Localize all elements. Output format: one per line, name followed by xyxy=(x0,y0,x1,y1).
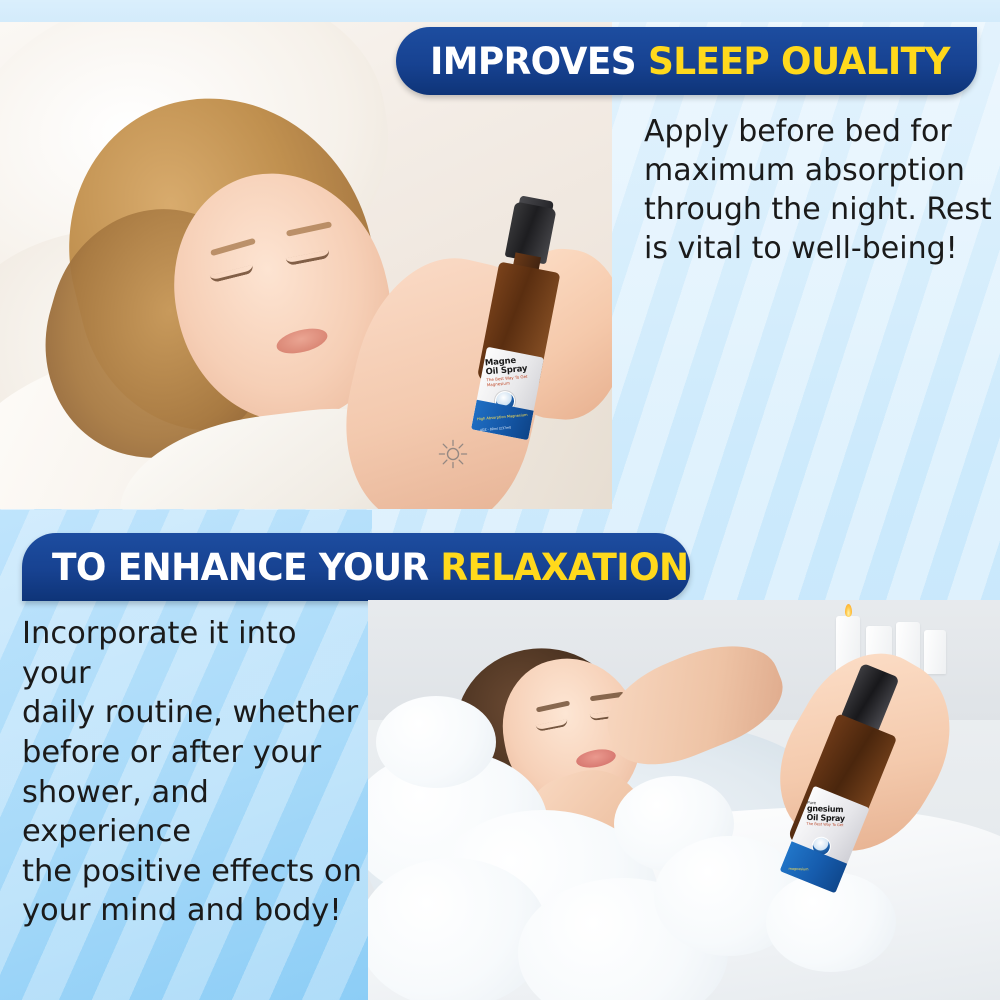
product-bottle-top: Magne Oil Spray The Best Way To Get Magn… xyxy=(475,200,582,393)
banner-2-highlight: RELAXATION xyxy=(440,546,688,589)
banner-1-lead: IMPROVES xyxy=(430,40,648,83)
bottle-label-text: Magne Oil Spray The Best Way To Get Magn… xyxy=(485,355,541,389)
banner-1-title: IMPROVES SLEEP OUALITY xyxy=(430,43,950,80)
banner-2-lead: TO ENHANCE YOUR xyxy=(52,546,440,589)
bottle-label-text-bath: Pure gnesium Oil Spray The Best Way To G… xyxy=(806,801,865,828)
photo-sleeping-woman: Magne Oil Spray The Best Way To Get Magn… xyxy=(0,22,612,509)
bottle-tagline-bath: The Best Way To Get xyxy=(806,822,864,828)
infographic-canvas: Magne Oil Spray The Best Way To Get Magn… xyxy=(0,0,1000,1000)
candle-flame-1 xyxy=(845,604,852,617)
banner-1-highlight: SLEEP OUALITY xyxy=(648,40,950,83)
foam-cluster-7 xyxy=(376,696,496,788)
sun-tattoo-icon xyxy=(436,437,470,471)
banner-improves-sleep-quality: IMPROVES SLEEP OUALITY xyxy=(396,27,977,95)
relaxation-body-copy: Incorporate it into your daily routine, … xyxy=(22,614,362,931)
sleep-body-copy: Apply before bed for maximum absorption … xyxy=(644,112,992,268)
banner-2-title: TO ENHANCE YOUR RELAXATION xyxy=(52,549,688,586)
banner-to-enhance-your-relaxation: TO ENHANCE YOUR RELAXATION xyxy=(22,533,690,601)
top-edge-band xyxy=(0,0,1000,22)
candle-4 xyxy=(924,630,946,674)
